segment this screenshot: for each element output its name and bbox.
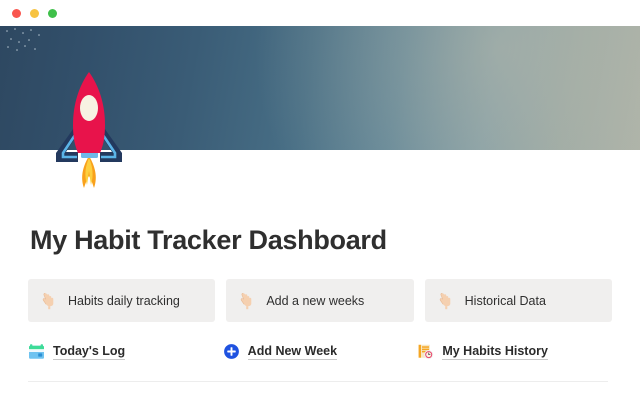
maximize-window-button[interactable] xyxy=(48,9,57,18)
card-add-a-new-weeks[interactable]: Add a new weeks xyxy=(226,279,413,322)
card-label: Habits daily tracking xyxy=(68,294,180,308)
card-historical-data[interactable]: Historical Data xyxy=(425,279,612,322)
calendar-icon xyxy=(28,343,45,360)
page-title: My Habit Tracker Dashboard xyxy=(30,225,387,256)
link-label: My Habits History xyxy=(442,344,548,360)
pointing-hand-icon xyxy=(42,291,59,310)
window-titlebar xyxy=(0,0,640,26)
link-add-new-week[interactable]: Add New Week xyxy=(223,343,418,360)
card-label: Add a new weeks xyxy=(266,294,364,308)
link-todays-log[interactable]: Today's Log xyxy=(28,343,223,360)
quick-action-card-row: Habits daily tracking Add a new weeks xyxy=(28,279,612,322)
link-label: Today's Log xyxy=(53,344,125,360)
banner-stars-decoration xyxy=(4,28,64,54)
history-document-icon xyxy=(417,343,434,360)
close-window-button[interactable] xyxy=(12,9,21,18)
card-habits-daily-tracking[interactable]: Habits daily tracking xyxy=(28,279,215,322)
rocket-icon xyxy=(46,70,132,195)
section-divider xyxy=(28,381,608,382)
plus-circle-icon xyxy=(223,343,240,360)
pointing-hand-icon xyxy=(240,291,257,310)
quick-link-row: Today's Log Add New Week xyxy=(28,343,612,360)
minimize-window-button[interactable] xyxy=(30,9,39,18)
app-window: My Habit Tracker Dashboard Habits daily … xyxy=(0,0,640,400)
link-label: Add New Week xyxy=(248,344,337,360)
link-my-habits-history[interactable]: My Habits History xyxy=(417,343,612,360)
card-label: Historical Data xyxy=(465,294,546,308)
traffic-light-controls xyxy=(12,9,57,18)
pointing-hand-icon xyxy=(439,291,456,310)
